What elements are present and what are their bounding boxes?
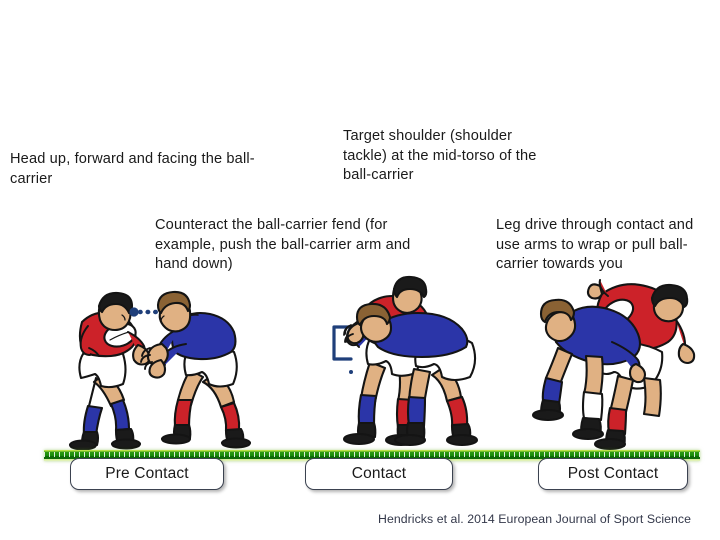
phase-label-contact[interactable]: Contact bbox=[305, 458, 453, 490]
phase-label-pre-contact[interactable]: Pre Contact bbox=[70, 458, 224, 490]
annotation-target-shoulder: Target shoulder (shoulder tackle) at the… bbox=[343, 127, 558, 186]
figure-pre-contact bbox=[58, 282, 258, 452]
phase-label-text: Post Contact bbox=[568, 465, 659, 483]
figure-contact bbox=[322, 277, 497, 452]
annotation-leg-drive: Leg drive through contact and use arms t… bbox=[496, 216, 711, 275]
annotation-counteract-fend: Counteract the ball-carrier fend (for ex… bbox=[155, 216, 445, 275]
figure-post-contact bbox=[540, 280, 715, 452]
annotation-head-up: Head up, forward and facing the ball-car… bbox=[10, 150, 272, 189]
phase-label-text: Pre Contact bbox=[105, 465, 189, 483]
phase-label-text: Contact bbox=[352, 465, 407, 483]
grass-blades bbox=[44, 452, 700, 457]
slide-canvas: Head up, forward and facing the ball-car… bbox=[0, 0, 720, 540]
phase-label-post-contact[interactable]: Post Contact bbox=[538, 458, 688, 490]
citation-text: Hendricks et al. 2014 European Journal o… bbox=[378, 512, 691, 526]
